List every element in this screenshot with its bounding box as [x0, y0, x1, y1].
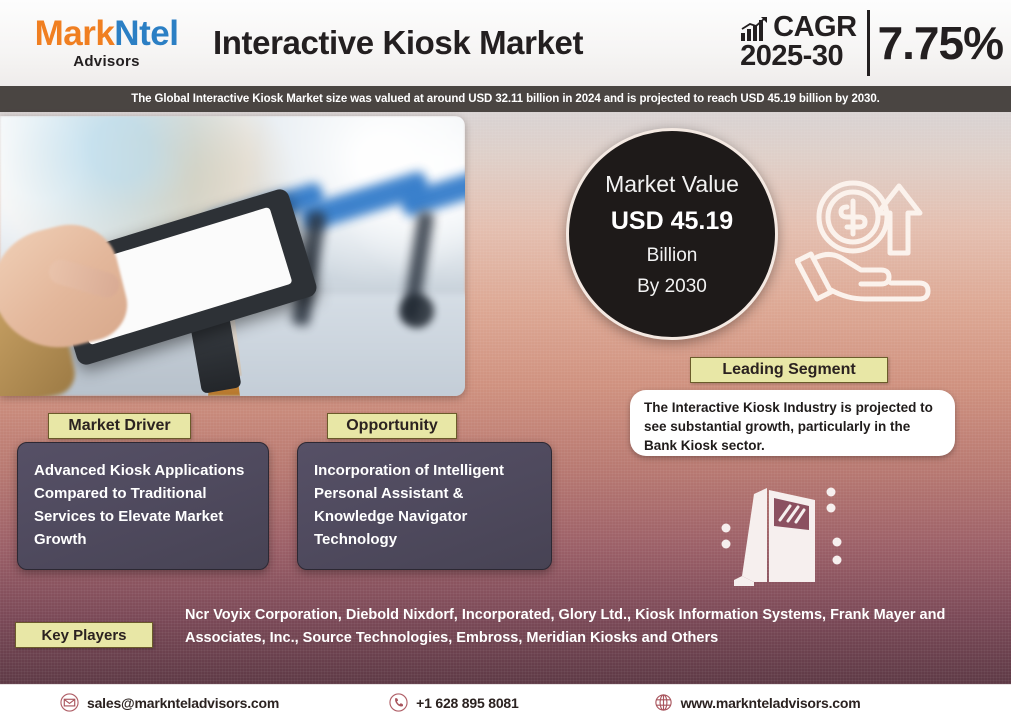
cagr-value: 7.75%: [870, 20, 1003, 66]
market-value-amount: USD 45.19: [611, 207, 733, 236]
market-value-year: By 2030: [637, 276, 707, 298]
leading-segment-bubble: The Interactive Kiosk Industry is projec…: [630, 390, 955, 456]
subtitle-bar: The Global Interactive Kiosk Market size…: [0, 86, 1011, 112]
market-value-title: Market Value: [605, 171, 739, 198]
logo-part-ntel: Ntel: [114, 14, 178, 53]
market-value-unit: Billion: [647, 245, 698, 267]
cagr-label: CAGR: [773, 14, 856, 42]
key-players-label: Key Players: [15, 622, 153, 648]
opportunity-label: Opportunity: [327, 413, 457, 439]
logo-part-mark: Mark: [35, 14, 115, 53]
logo-tagline: Advisors: [73, 53, 140, 70]
key-players-text: Ncr Voyix Corporation, Diebold Nixdorf, …: [185, 604, 975, 651]
subtitle-text: The Global Interactive Kiosk Market size…: [131, 93, 879, 105]
footer-phone-text: +1 628 895 8081: [416, 695, 519, 711]
photo-gym-weight: [400, 294, 434, 328]
logo-wordmark: MarkNtel: [35, 16, 179, 51]
market-value-circle: Market Value USD 45.19 Billion By 2030: [566, 128, 778, 340]
hand-holding-dollar-growth-icon: [795, 165, 955, 305]
globe-icon: [654, 693, 673, 712]
footer-phone[interactable]: +1 628 895 8081: [389, 693, 519, 712]
footer-email[interactable]: sales@marknteladvisors.com: [60, 693, 279, 712]
leading-segment-label: Leading Segment: [690, 357, 888, 383]
phone-icon: [389, 693, 408, 712]
brand-logo[interactable]: MarkNtel Advisors: [0, 0, 205, 86]
infographic-poster: MarkNtel Advisors Interactive Kiosk Mark…: [0, 0, 1011, 720]
cagr-block: CAGR 2025-30 7.75%: [740, 6, 1003, 80]
market-driver-label: Market Driver: [48, 413, 191, 439]
poster-footer: sales@marknteladvisors.com +1 628 895 80…: [0, 684, 1011, 720]
opportunity-card: Incorporation of Intelligent Personal As…: [297, 442, 552, 570]
hero-photo: [0, 116, 465, 396]
poster-header: MarkNtel Advisors Interactive Kiosk Mark…: [0, 0, 1011, 86]
cagr-label-row: CAGR: [740, 14, 856, 42]
atm-kiosk-icon: [712, 482, 857, 587]
leading-segment-text: The Interactive Kiosk Industry is projec…: [644, 398, 941, 455]
cagr-years: 2025-30: [740, 42, 843, 72]
page-title: Interactive Kiosk Market: [213, 24, 583, 62]
envelope-icon: [60, 693, 79, 712]
footer-email-text: sales@marknteladvisors.com: [87, 695, 279, 711]
market-driver-card: Advanced Kiosk Applications Compared to …: [17, 442, 269, 570]
bar-chart-growth-icon: [740, 16, 770, 42]
market-driver-text: Advanced Kiosk Applications Compared to …: [34, 459, 254, 551]
cagr-left: CAGR 2025-30: [740, 14, 866, 71]
opportunity-text: Incorporation of Intelligent Personal As…: [314, 459, 537, 551]
footer-website-text: www.marknteladvisors.com: [681, 695, 861, 711]
footer-website[interactable]: www.marknteladvisors.com: [654, 693, 861, 712]
